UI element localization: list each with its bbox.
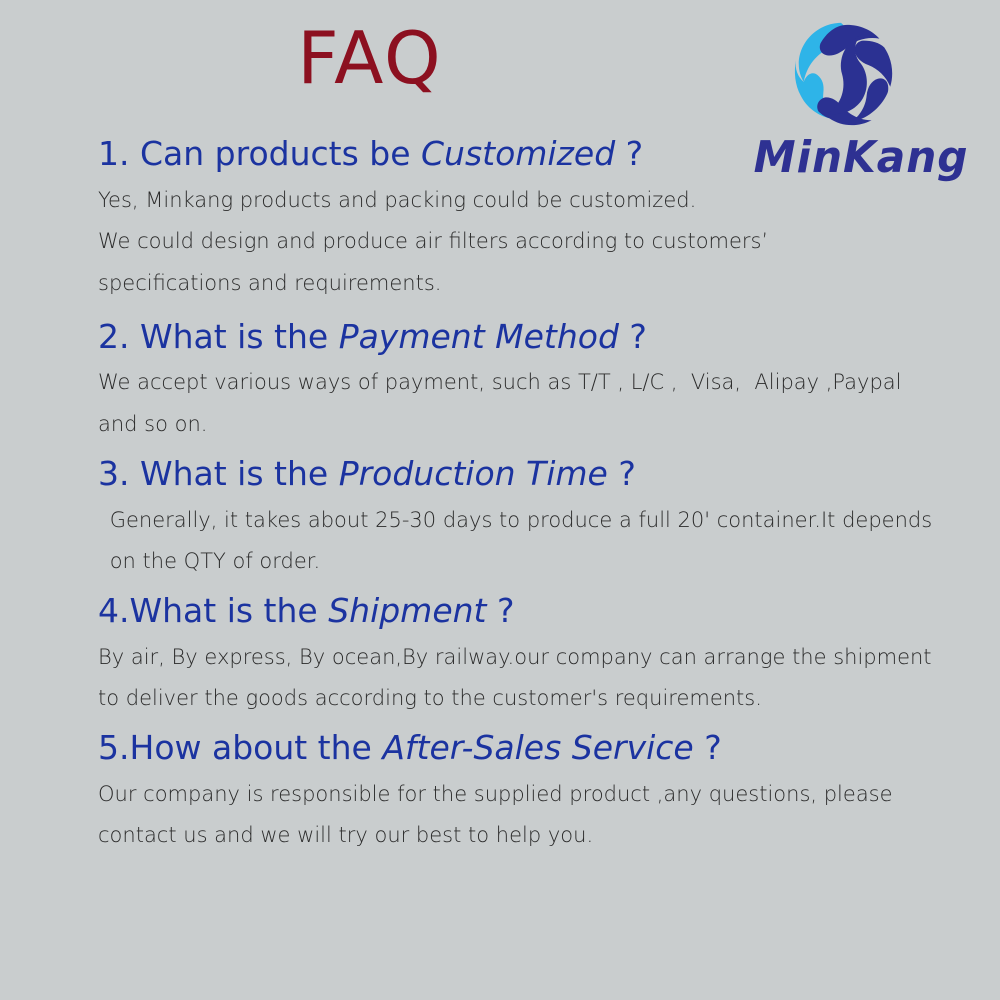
faq-question-tail: ? bbox=[608, 454, 636, 493]
faq-item: 5.How about the After-Sales Service ? Ou… bbox=[98, 726, 978, 857]
faq-question-emphasis: After-Sales Service bbox=[382, 728, 693, 767]
faq-question-lead: How about the bbox=[130, 728, 383, 767]
faq-question-lead: What is the bbox=[140, 454, 339, 493]
faq-question-tail: ? bbox=[619, 317, 647, 356]
faq-answer: Our company is responsible for the suppl… bbox=[98, 774, 978, 857]
page-title: FAQ bbox=[0, 22, 740, 94]
faq-question-tail: ? bbox=[486, 591, 514, 630]
faq-answer: Generally, it takes about 25-30 days to … bbox=[98, 500, 978, 583]
faq-question-emphasis: Payment Method bbox=[339, 317, 619, 356]
faq-item: 4.What is the Shipment ? By air, By expr… bbox=[98, 589, 978, 720]
faq-list: 1. Can products be Customized ? Yes, Min… bbox=[98, 132, 978, 859]
faq-answer: Yes, Minkang products and packing could … bbox=[98, 180, 978, 305]
faq-question-tail: ? bbox=[615, 134, 643, 173]
faq-question-emphasis: Customized bbox=[421, 134, 615, 173]
faq-question-number: 4. bbox=[98, 591, 130, 630]
faq-answer: We accept various ways of payment, such … bbox=[98, 362, 978, 445]
faq-question-number: 1. bbox=[98, 134, 140, 173]
faq-item: 2. What is the Payment Method ? We accep… bbox=[98, 315, 978, 446]
faq-answer: By air, By express, By ocean,By railway.… bbox=[98, 637, 978, 720]
faq-question-tail: ? bbox=[694, 728, 722, 767]
faq-item: 3. What is the Production Time ? General… bbox=[98, 452, 978, 583]
faq-question-number: 3. bbox=[98, 454, 140, 493]
faq-question-lead: What is the bbox=[130, 591, 329, 630]
faq-question-number: 2. bbox=[98, 317, 140, 356]
faq-question-emphasis: Shipment bbox=[328, 591, 486, 630]
faq-question: 4.What is the Shipment ? bbox=[98, 589, 978, 633]
spacer bbox=[98, 307, 978, 315]
faq-question-emphasis: Production Time bbox=[339, 454, 608, 493]
swirl-pinwheel-icon bbox=[785, 14, 903, 134]
faq-question: 3. What is the Production Time ? bbox=[98, 452, 978, 496]
faq-question: 1. Can products be Customized ? bbox=[98, 132, 978, 176]
faq-question-lead: Can products be bbox=[140, 134, 421, 173]
faq-page: FAQ MinKang 1. C bbox=[0, 0, 1000, 1000]
faq-question-lead: What is the bbox=[140, 317, 339, 356]
faq-question: 5.How about the After-Sales Service ? bbox=[98, 726, 978, 770]
faq-item: 1. Can products be Customized ? Yes, Min… bbox=[98, 132, 978, 305]
faq-question-number: 5. bbox=[98, 728, 130, 767]
faq-question: 2. What is the Payment Method ? bbox=[98, 315, 978, 359]
